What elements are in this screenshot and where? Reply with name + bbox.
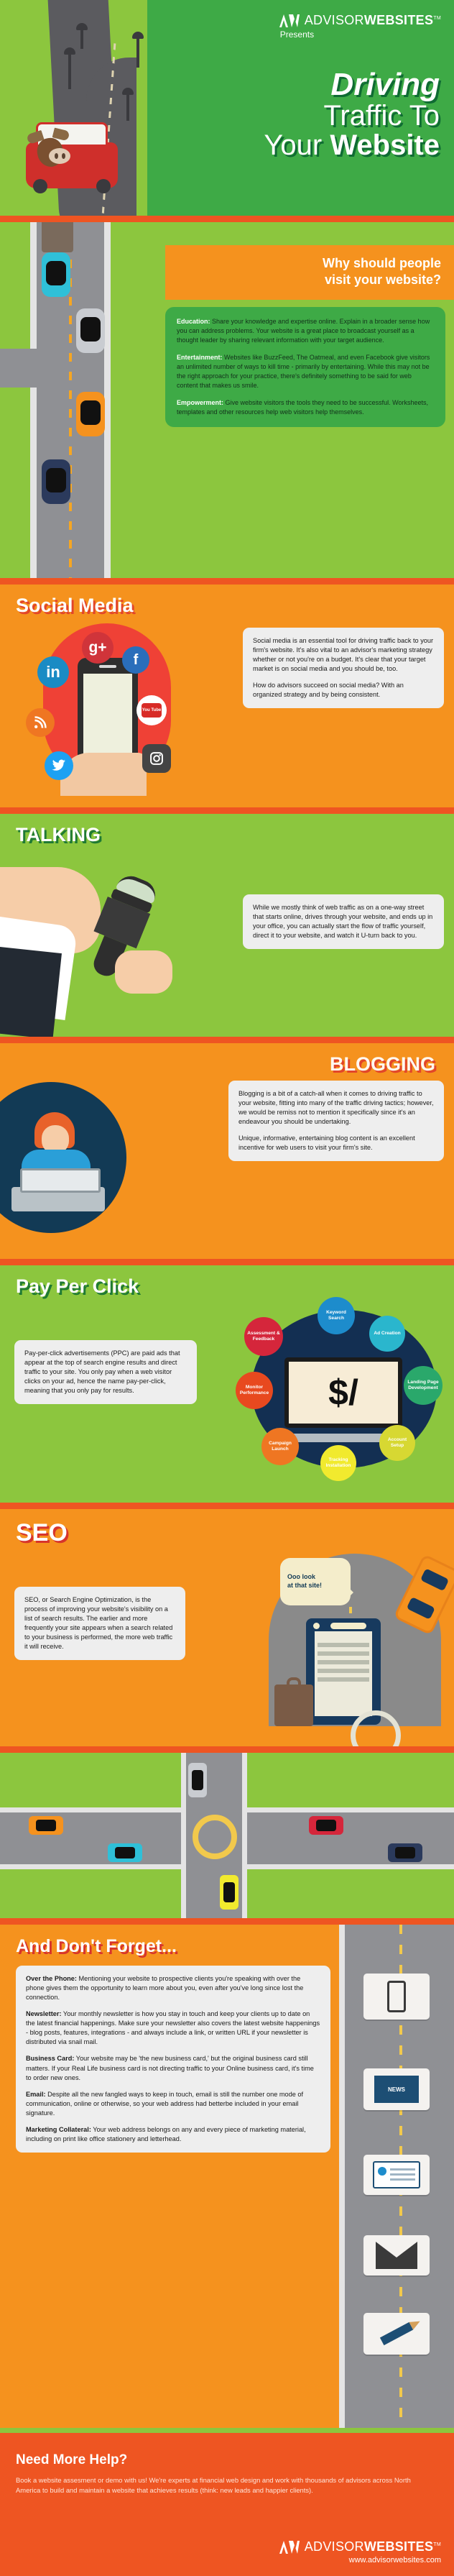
- forget-item-email: Email: Despite all the new fangled ways …: [26, 2090, 320, 2118]
- reason-empowerment: Empowerment: Give website visitors the t…: [177, 398, 434, 417]
- why-banner-heading: Why should people visit your website?: [178, 255, 441, 288]
- pay-per-click-section: Pay Per Click Pay-per-click advertisemen…: [0, 1265, 454, 1503]
- section-divider: [0, 1503, 454, 1509]
- forget-text-email: Despite all the new fangled ways to keep…: [26, 2091, 303, 2117]
- hand-holding-mic: [115, 950, 172, 994]
- instagram-glyph: [149, 751, 164, 766]
- youtube-icon: You Tube: [136, 695, 167, 725]
- ppc-text-card: Pay-per-click advertisements (PPC) are p…: [14, 1340, 197, 1404]
- street-lamp-icon: [126, 92, 129, 121]
- briefcase-handle: [287, 1677, 301, 1687]
- car-wheel: [33, 179, 47, 193]
- reason-entertainment-label: Entertainment:: [177, 354, 223, 361]
- talking-text-card: While we mostly think of web traffic as …: [243, 894, 444, 949]
- ppc-paragraph-1: Pay-per-click advertisements (PPC) are p…: [24, 1349, 187, 1395]
- ppc-step-monitor-performance: Monitor Performance: [236, 1372, 273, 1409]
- reason-entertainment: Entertainment: Websites like BuzzFeed, T…: [177, 353, 434, 390]
- smartphone-illustration: [78, 658, 138, 766]
- blogging-text-card: Blogging is a bit of a catch-all when it…: [228, 1081, 444, 1161]
- truck-illustration: [42, 222, 73, 252]
- forget-item-business-card: Business Card: Your website may be 'the …: [26, 2054, 320, 2082]
- pen-icon-card: [363, 2313, 430, 2355]
- result-line: [318, 1643, 369, 1647]
- vehicle-roof: [80, 400, 101, 425]
- advisorwebsites-logo-icon: [279, 2540, 300, 2554]
- google-plus-icon: g+: [82, 632, 114, 664]
- street-lamp-icon: [68, 52, 71, 89]
- pen-icon: [380, 2322, 413, 2345]
- car-window: [420, 1568, 449, 1591]
- section-divider: [0, 1746, 454, 1753]
- hero-title-line-3: Your Website: [264, 131, 440, 160]
- forget-label-email: Email:: [26, 2091, 46, 2098]
- reason-education-label: Education:: [177, 318, 210, 325]
- ppc-cycle-diagram: $/ Keyword Search Ad Creation Landing Pa…: [236, 1297, 451, 1491]
- device-camera: [313, 1623, 320, 1629]
- hero-section: ADVISORWEBSITESTM Presents Driving Traff…: [0, 0, 454, 216]
- section-divider: [0, 216, 454, 222]
- seo-paragraph-1: SEO, or Search Engine Optimization, is t…: [24, 1595, 175, 1651]
- website-url[interactable]: www.advisorwebsites.com: [279, 2556, 441, 2564]
- forget-text-newsletter: Your monthly newsletter is how you stay …: [26, 2010, 320, 2045]
- suit-illustration: [0, 945, 62, 1037]
- vehicle-roof: [223, 1882, 235, 1902]
- envelope-icon-card: [363, 2235, 430, 2275]
- result-line: [318, 1660, 369, 1664]
- talking-title: TALKING: [0, 814, 454, 846]
- brand-wordmark: ADVISORWEBSITESTM: [305, 13, 441, 28]
- twitter-icon: [45, 751, 73, 780]
- street-lamp-icon: [80, 27, 83, 49]
- footer-brand-light: ADVISOR: [305, 2539, 364, 2554]
- seo-illustration: Ooo lookat that site!: [264, 1544, 444, 1731]
- car-illustration: [108, 1843, 142, 1862]
- social-media-section: Social Media in g+ f You Tube: [0, 585, 454, 807]
- linkedin-icon: in: [37, 656, 69, 688]
- section-divider-green: [0, 2428, 454, 2433]
- social-paragraph-1: Social media is an essential tool for dr…: [253, 636, 434, 674]
- need-more-help-title: Need More Help?: [16, 2452, 438, 2468]
- reason-education: Education: Share your knowledge and expe…: [177, 317, 434, 345]
- social-media-illustration: in g+ f You Tube: [16, 616, 195, 796]
- phone-icon: [387, 1981, 406, 2012]
- need-more-help-section: Need More Help? Book a website assesment…: [0, 2439, 454, 2576]
- briefcase-icon: [274, 1685, 313, 1726]
- car-illustration: [188, 1763, 207, 1797]
- blogging-paragraph-2: Unique, informative, entertaining blog c…: [238, 1134, 434, 1152]
- section-divider: [0, 578, 454, 585]
- footer-trademark-symbol: TM: [433, 2542, 441, 2547]
- reason-education-text: Share your knowledge and expertise onlin…: [177, 318, 430, 344]
- social-media-title: Social Media: [0, 585, 454, 617]
- blogger-illustration: [10, 1112, 111, 1220]
- ppc-step-assessment-feedback: Assessment & Feedback: [244, 1317, 283, 1356]
- forget-label-over-the-phone: Over the Phone:: [26, 1975, 77, 1982]
- youtube-label: You Tube: [142, 703, 162, 718]
- infographic-page: ADVISORWEBSITESTM Presents Driving Traff…: [0, 0, 454, 2576]
- search-result-lines: [318, 1643, 369, 1686]
- section-divider: [0, 1037, 454, 1043]
- car-illustration: [29, 1816, 63, 1835]
- brand-name-light: ADVISOR: [305, 13, 364, 27]
- device-search-bar: [330, 1623, 366, 1629]
- vehicle-roof: [115, 1847, 135, 1858]
- forget-label-business-card: Business Card:: [26, 2055, 74, 2062]
- reason-empowerment-label: Empowerment:: [177, 399, 223, 406]
- speech-bubble-text: Ooo lookat that site!: [287, 1573, 322, 1590]
- car-illustration: [220, 1875, 238, 1910]
- orange-car-illustration: [76, 392, 105, 436]
- twitter-bird-glyph: [52, 759, 66, 772]
- ppc-title: Pay Per Click: [0, 1265, 454, 1298]
- navy-car-illustration: [42, 459, 70, 504]
- talking-paragraph-1: While we mostly think of web traffic as …: [253, 903, 434, 940]
- seo-text-card: SEO, or Search Engine Optimization, is t…: [14, 1587, 185, 1660]
- section-divider: [0, 1259, 454, 1265]
- blogging-title: BLOGGING: [0, 1043, 454, 1076]
- forget-item-over-the-phone: Over the Phone: Mentioning your website …: [26, 1974, 320, 2002]
- speech-line-2: at that site!: [287, 1582, 322, 1589]
- talking-section: TALKING While we mostly think of web tra…: [0, 814, 454, 1037]
- vehicle-roof: [316, 1820, 336, 1831]
- hero-title: Driving Traffic To Your Website: [264, 69, 440, 160]
- street-lamp-icon: [136, 36, 139, 68]
- ppc-step-ad-creation: Ad Creation: [369, 1316, 405, 1352]
- ppc-step-tracking-installation: Tracking Installation: [320, 1445, 356, 1481]
- section-divider: [0, 2433, 454, 2439]
- hero-title-line-1: Driving: [264, 69, 440, 101]
- seo-section: SEO SEO, or Search Engine Optimization, …: [0, 1509, 454, 1746]
- vehicle-roof: [36, 1820, 56, 1831]
- side-road: [0, 349, 43, 388]
- why-visit-section: Why should people visit your website? Ed…: [0, 222, 454, 578]
- vehicle-roof: [46, 468, 66, 492]
- forget-item-marketing-collateral: Marketing Collateral: Your web address b…: [26, 2125, 320, 2144]
- why-banner-line-1: Why should people: [323, 256, 441, 270]
- hand-illustration: [60, 753, 147, 796]
- hero-title-light: Your: [264, 129, 330, 161]
- envelope-icon: [376, 2242, 417, 2269]
- hero-title-bold: Website: [330, 129, 440, 161]
- vehicle-roof: [80, 317, 101, 342]
- rss-glyph: [33, 715, 47, 730]
- ppc-step-campaign-launch: Campaign Launch: [261, 1428, 299, 1465]
- business-card-icon: [373, 2161, 420, 2188]
- brand-name-heavy: WEBSITES: [364, 13, 433, 27]
- footer-brand-heavy: WEBSITES: [364, 2539, 433, 2554]
- why-banner: Why should people visit your website?: [165, 245, 454, 300]
- presents-label: Presents: [280, 29, 441, 40]
- intersection-illustration: [0, 1753, 454, 1918]
- blue-car-illustration: [42, 252, 70, 297]
- search-results-device: [306, 1618, 381, 1725]
- result-line: [318, 1651, 369, 1656]
- section-divider: [0, 807, 454, 814]
- why-banner-line-2: visit your website?: [325, 272, 441, 287]
- brand-header: ADVISORWEBSITESTM Presents: [279, 13, 441, 40]
- newspaper-icon: NEWS: [374, 2076, 419, 2103]
- vehicle-roof: [46, 261, 66, 285]
- ppc-step-account-setup: Account Setup: [379, 1425, 415, 1461]
- speech-bubble: Ooo lookat that site!: [280, 1558, 351, 1605]
- result-line: [318, 1669, 369, 1673]
- vehicle-roof: [395, 1847, 415, 1858]
- moose-mascot-icon: [32, 128, 69, 167]
- need-more-help-text: Book a website assesment or demo with us…: [16, 2475, 425, 2495]
- car-illustration: [388, 1843, 422, 1862]
- facebook-icon: f: [122, 646, 149, 674]
- footer-brand-wordmark: ADVISORWEBSITESTM: [305, 2539, 441, 2554]
- phone-icon-card: [363, 1974, 430, 2020]
- car-illustration: [309, 1816, 343, 1835]
- trademark-symbol: TM: [433, 16, 441, 21]
- ppc-step-landing-page-development: Landing Page Development: [404, 1366, 443, 1405]
- ppc-step-keyword-search: Keyword Search: [318, 1297, 355, 1334]
- car-window: [407, 1597, 435, 1620]
- footer-brand: ADVISORWEBSITESTM www.advisorwebsites.co…: [279, 2539, 441, 2564]
- dont-forget-card: Over the Phone: Mentioning your website …: [16, 1966, 330, 2153]
- laptop-icon: [11, 1187, 105, 1211]
- moose-snout: [49, 148, 70, 164]
- dollar-click-glyph: $/: [289, 1362, 398, 1424]
- social-media-text-card: Social media is an essential tool for dr…: [243, 628, 444, 708]
- result-line: [318, 1677, 369, 1682]
- laptop-screen: $/: [284, 1357, 402, 1428]
- newspaper-icon-card: NEWS: [363, 2068, 430, 2110]
- hero-title-line-2: Traffic To: [264, 101, 440, 131]
- instagram-icon: [142, 744, 171, 773]
- seo-title: SEO: [0, 1509, 454, 1547]
- dont-forget-section: NEWS And Don't Forget... Over the Phone:…: [0, 1925, 454, 2428]
- vehicle-roof: [192, 1770, 203, 1790]
- rss-icon: [26, 708, 55, 737]
- forget-label-newsletter: Newsletter:: [26, 2010, 62, 2017]
- phone-speaker: [99, 665, 116, 668]
- forget-label-marketing-collateral: Marketing Collateral:: [26, 2126, 91, 2133]
- section-divider: [0, 1918, 454, 1925]
- speech-line-1: Ooo look: [287, 1573, 315, 1580]
- blogging-section: BLOGGING Blogging is a bit of a catch-al…: [0, 1043, 454, 1259]
- business-card-icon-card: [363, 2155, 430, 2195]
- phone-screen: [83, 674, 132, 754]
- grey-car-illustration: [76, 308, 105, 353]
- blogging-paragraph-1: Blogging is a bit of a catch-all when it…: [238, 1089, 434, 1127]
- roundabout-marker: [193, 1815, 237, 1859]
- social-paragraph-2: How do advisors succeed on social media?…: [253, 681, 434, 700]
- forget-item-newsletter: Newsletter: Your monthly newsletter is h…: [26, 2009, 320, 2047]
- advisorwebsites-logo-icon: [279, 14, 300, 28]
- car-wheel: [96, 179, 111, 193]
- why-reasons-card: Education: Share your knowledge and expe…: [165, 307, 445, 427]
